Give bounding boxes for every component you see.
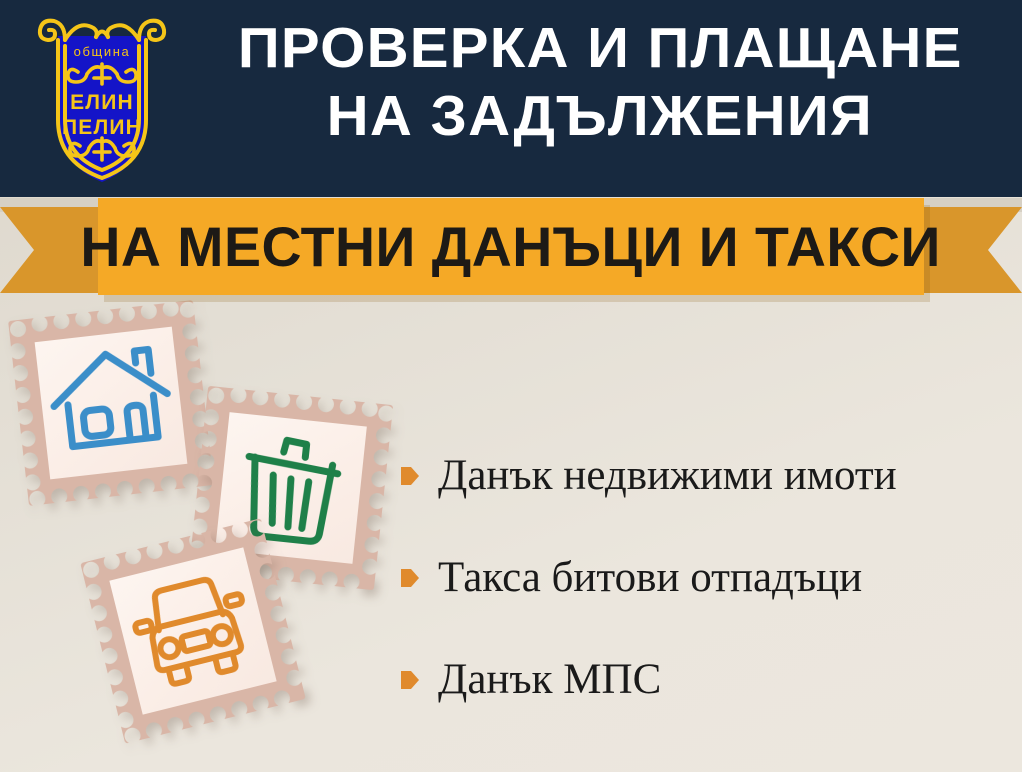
- poster-canvas: община ЕЛИН ПЕЛИН ПРОВЕРКА И ПЛАЩАНЕ НА …: [0, 0, 1022, 772]
- list-item[interactable]: Такса битови отпадъци: [400, 527, 1010, 629]
- page-title: ПРОВЕРКА И ПЛАЩАНЕ НА ЗАДЪЛЖЕНИЯ: [185, 14, 1015, 184]
- ribbon-label: НА МЕСТНИ ДАНЪЦИ И ТАКСИ: [81, 214, 942, 279]
- header-bar: община ЕЛИН ПЕЛИН ПРОВЕРКА И ПЛАЩАНЕ НА …: [0, 0, 1022, 197]
- subtitle-ribbon: НА МЕСТНИ ДАНЪЦИ И ТАКСИ: [0, 186, 1022, 306]
- list-item[interactable]: Данък МПС: [400, 629, 1010, 731]
- services-list: Данък недвижими имоти Такса битови отпад…: [400, 425, 1010, 731]
- arrow-bullet-icon: [400, 668, 420, 692]
- list-item[interactable]: Данък недвижими имоти: [400, 425, 1010, 527]
- list-item-label: Такса битови отпадъци: [438, 554, 862, 602]
- crest-name-line-1: ЕЛИН: [70, 91, 134, 114]
- arrow-bullet-icon: [400, 464, 420, 488]
- stamp-collage: [0, 300, 420, 770]
- crest-small-label: община: [74, 44, 131, 59]
- crest-name-line-2: ПЕЛИН: [62, 116, 142, 139]
- elin-pelin-crest-icon: община ЕЛИН ПЕЛИН: [34, 6, 170, 188]
- ribbon-band: НА МЕСТНИ ДАНЪЦИ И ТАКСИ: [98, 198, 924, 295]
- house-icon: [35, 327, 188, 480]
- stamp-card-house: [8, 300, 214, 506]
- title-line-1: ПРОВЕРКА И ПЛАЩАНЕ: [238, 14, 963, 82]
- arrow-bullet-icon: [400, 566, 420, 590]
- list-item-label: Данък недвижими имоти: [438, 452, 897, 500]
- title-line-2: НА ЗАДЪЛЖЕНИЯ: [327, 82, 873, 150]
- list-item-label: Данък МПС: [438, 656, 661, 704]
